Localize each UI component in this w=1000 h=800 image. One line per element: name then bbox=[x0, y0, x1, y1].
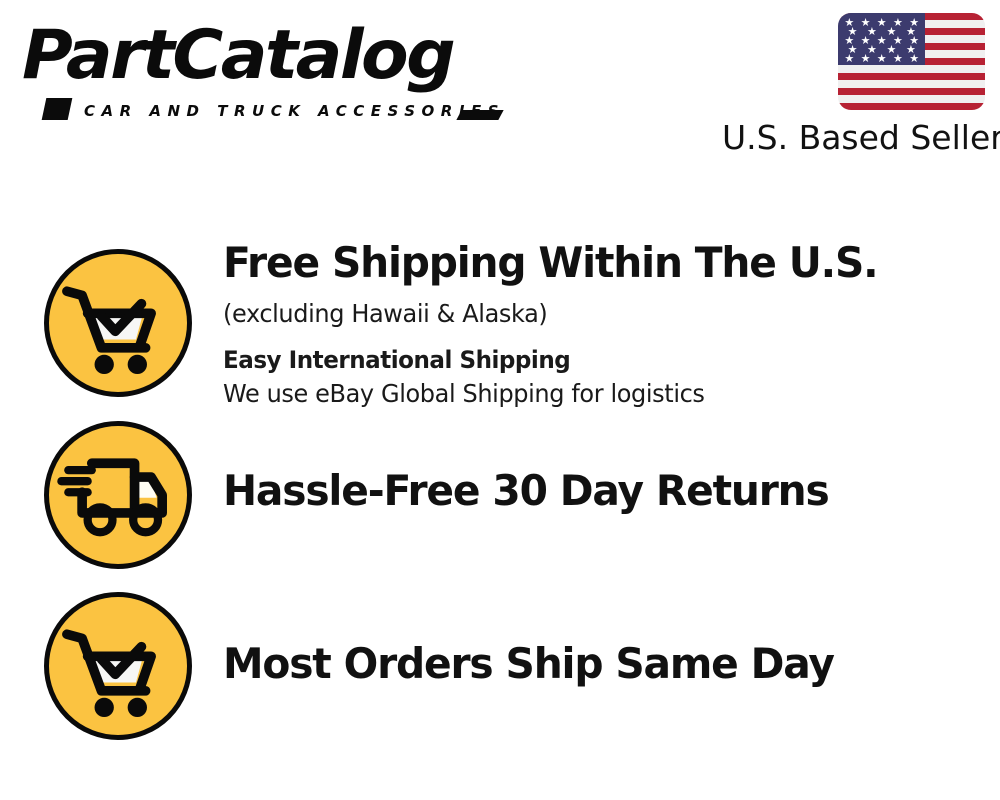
logo-tagline: CAR AND TRUCK ACCESSORIES bbox=[84, 102, 505, 120]
flag-canton: ★★★★★ ★★★★ ★★★★★ ★★★★ ★★★★★ bbox=[838, 13, 925, 65]
feature-text-block: Free Shipping Within The U.S. (excluding… bbox=[223, 239, 963, 411]
logo-accent-right bbox=[456, 110, 503, 120]
flag-stripe bbox=[838, 103, 985, 110]
flag-star-row: ★★★★★ bbox=[838, 54, 925, 65]
feature-heading: Most Orders Ship Same Day bbox=[223, 640, 941, 688]
flag-stripe bbox=[838, 73, 985, 80]
us-flag-icon: ★★★★★ ★★★★ ★★★★★ ★★★★ ★★★★★ bbox=[838, 13, 985, 110]
flag-stripe bbox=[838, 80, 985, 87]
feature-subheading: Easy International Shipping bbox=[223, 343, 933, 377]
flag-stripe bbox=[838, 95, 985, 102]
feature-text-block: Hassle-Free 30 Day Returns bbox=[223, 467, 963, 515]
shopping-cart-check-icon bbox=[44, 249, 192, 397]
logo-wordmark: PartCatalog bbox=[22, 18, 453, 94]
delivery-truck-icon bbox=[44, 421, 192, 569]
brand-logo: PartCatalog CAR AND TRUCK ACCESSORIES bbox=[22, 18, 492, 118]
us-based-seller-label: U.S. Based Seller bbox=[722, 118, 985, 157]
shopping-cart-check-icon bbox=[44, 592, 192, 740]
promotional-banner: PartCatalog CAR AND TRUCK ACCESSORIES ★★… bbox=[0, 0, 1000, 800]
feature-note: (excluding Hawaii & Alaska) bbox=[223, 297, 933, 331]
logo-accent-left bbox=[42, 98, 73, 120]
flag-stripe bbox=[838, 65, 985, 72]
feature-text-block: Most Orders Ship Same Day bbox=[223, 640, 963, 688]
feature-detail: We use eBay Global Shipping for logistic… bbox=[223, 377, 933, 411]
feature-heading: Hassle-Free 30 Day Returns bbox=[223, 467, 941, 515]
flag-stripe bbox=[838, 88, 985, 95]
feature-heading: Free Shipping Within The U.S. bbox=[223, 239, 941, 287]
